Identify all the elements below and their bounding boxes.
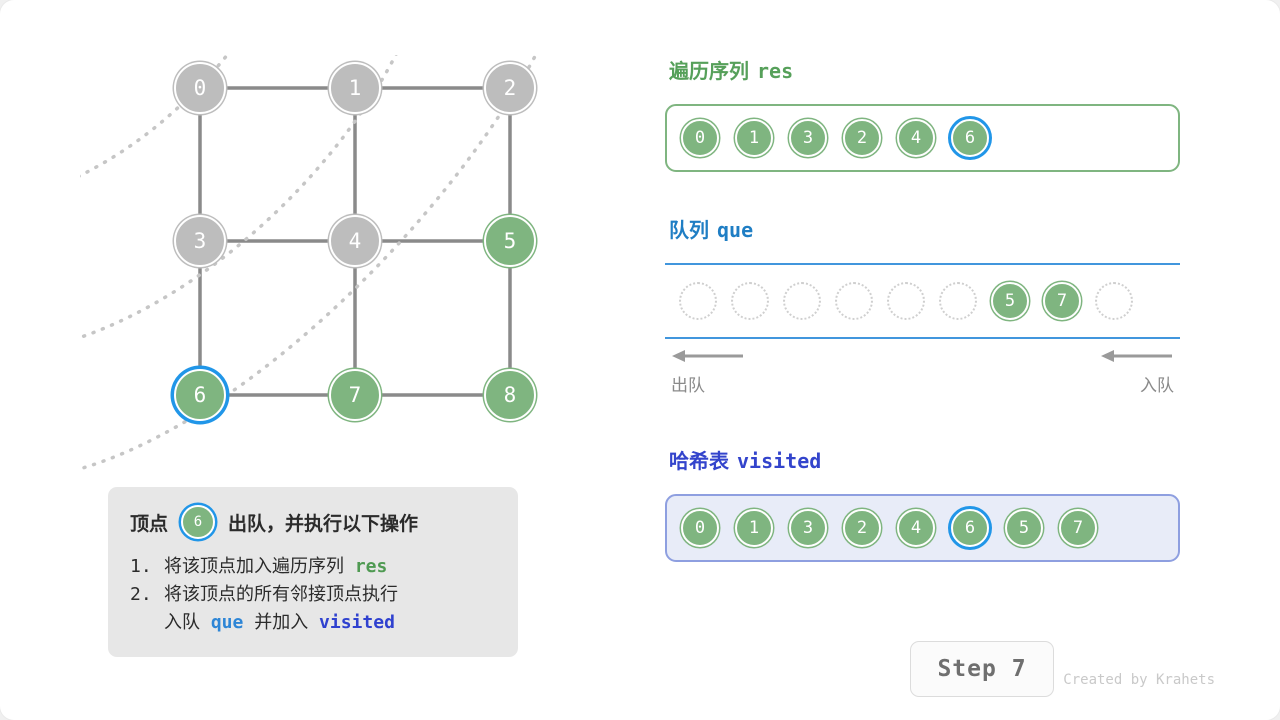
graph-node-0[interactable]: 0: [174, 62, 226, 114]
graph-node-6[interactable]: 6: [174, 369, 226, 421]
caption-step-1-text: 将该顶点加入遍历序列 res: [164, 553, 496, 581]
queue-legend: 出队 入队: [665, 345, 1180, 401]
footer-row: Step 7 Created by Krahets: [665, 641, 1225, 701]
res-container: 013246: [665, 104, 1180, 172]
credit-text: Created by Krahets: [1063, 672, 1215, 688]
caption-step-1-pre: 将该顶点加入遍历序列: [164, 556, 344, 577]
visited-container: 01324657: [665, 494, 1180, 562]
visited-section: 哈希表visited 01324657: [665, 445, 1210, 562]
queue-slot-8: [1095, 282, 1133, 320]
queue-slot-6: 5: [991, 282, 1029, 320]
dequeue-label: 出队: [671, 371, 705, 396]
caption-step-1: 1. 将该顶点加入遍历序列 res: [130, 553, 496, 581]
visited-item-6: 5: [1005, 509, 1043, 547]
visited-item-4: 4: [897, 509, 935, 547]
graph-node-8[interactable]: 8: [484, 369, 536, 421]
graph-node-7[interactable]: 7: [329, 369, 381, 421]
graph-node-4[interactable]: 4: [329, 215, 381, 267]
operation-caption-box: 顶点 6 出队，并执行以下操作 1. 将该顶点加入遍历序列 res 2. 将该顶…: [108, 487, 518, 657]
queue-slot-2: [783, 282, 821, 320]
queue-title-cn: 队列: [669, 220, 709, 242]
queue-section-title: 队列que: [669, 214, 1210, 243]
caption-step-2-number: 2.: [130, 581, 164, 609]
step-badge: Step 7: [910, 641, 1054, 697]
caption-head-prefix: 顶点: [130, 509, 168, 536]
queue-slot-0: [679, 282, 717, 320]
caption-vertex-chip: 6: [181, 505, 215, 539]
graph-node-3[interactable]: 3: [174, 215, 226, 267]
visited-title-mono: visited: [737, 449, 821, 473]
graph-edges-layer: [80, 55, 540, 475]
caption-step-1-keyword-res: res: [355, 556, 388, 577]
res-item-4: 4: [897, 119, 935, 157]
caption-step-2-text: 将该顶点的所有邻接顶点执行: [164, 581, 496, 609]
visited-item-2: 3: [789, 509, 827, 547]
queue-title-mono: que: [717, 218, 753, 242]
res-item-0: 0: [681, 119, 719, 157]
res-item-2: 3: [789, 119, 827, 157]
res-item-5: 6: [951, 119, 989, 157]
caption-step-2-continued: 入队 que 并加入 visited: [130, 609, 496, 637]
visited-item-3: 2: [843, 509, 881, 547]
queue-slot-3: [835, 282, 873, 320]
visited-section-title: 哈希表visited: [669, 445, 1210, 474]
graph-node-5[interactable]: 5: [484, 215, 536, 267]
visited-title-cn: 哈希表: [669, 451, 729, 473]
caption-step-2-pre: 入队: [164, 612, 200, 633]
res-item-1: 1: [735, 119, 773, 157]
visited-item-0: 0: [681, 509, 719, 547]
res-item-3: 2: [843, 119, 881, 157]
res-title-cn: 遍历序列: [669, 61, 749, 83]
graph-panel: 012345678: [80, 55, 540, 475]
bfs-wavefront-curves: [80, 55, 540, 475]
queue-slot-7: 7: [1043, 282, 1081, 320]
caption-headline: 顶点 6 出队，并执行以下操作: [130, 505, 496, 539]
caption-head-suffix: 出队，并执行以下操作: [228, 509, 418, 536]
caption-step-2-mid: 并加入: [254, 612, 308, 633]
queue-container: 57: [665, 263, 1180, 339]
caption-step-2-keyword-visited: visited: [319, 612, 395, 633]
queue-arrow-row: [665, 349, 1180, 367]
visited-item-5: 6: [951, 509, 989, 547]
enqueue-label: 入队: [1140, 371, 1174, 396]
res-title-mono: res: [757, 59, 793, 83]
caption-step-2-indent: [130, 609, 164, 637]
graph-node-2[interactable]: 2: [484, 62, 536, 114]
caption-step-1-number: 1.: [130, 553, 164, 581]
queue-slot-5: [939, 282, 977, 320]
dequeue-arrow-icon: [671, 349, 745, 363]
visited-item-1: 1: [735, 509, 773, 547]
visited-item-7: 7: [1059, 509, 1097, 547]
queue-slot-1: [731, 282, 769, 320]
queue-section: 队列que 57 出队 入队: [665, 214, 1210, 401]
caption-step-2-keyword-que: que: [211, 612, 244, 633]
caption-step-2-cont-text: 入队 que 并加入 visited: [164, 609, 496, 637]
res-section-title: 遍历序列res: [669, 55, 1210, 84]
caption-step-2: 2. 将该顶点的所有邻接顶点执行: [130, 581, 496, 609]
graph-node-1[interactable]: 1: [329, 62, 381, 114]
enqueue-arrow-icon: [1100, 349, 1174, 363]
state-panel: 遍历序列res 013246 队列que 57 出队: [665, 55, 1210, 562]
queue-slot-4: [887, 282, 925, 320]
diagram-canvas: 012345678 顶点 6 出队，并执行以下操作 1. 将该顶点加入遍历序列 …: [0, 0, 1280, 720]
